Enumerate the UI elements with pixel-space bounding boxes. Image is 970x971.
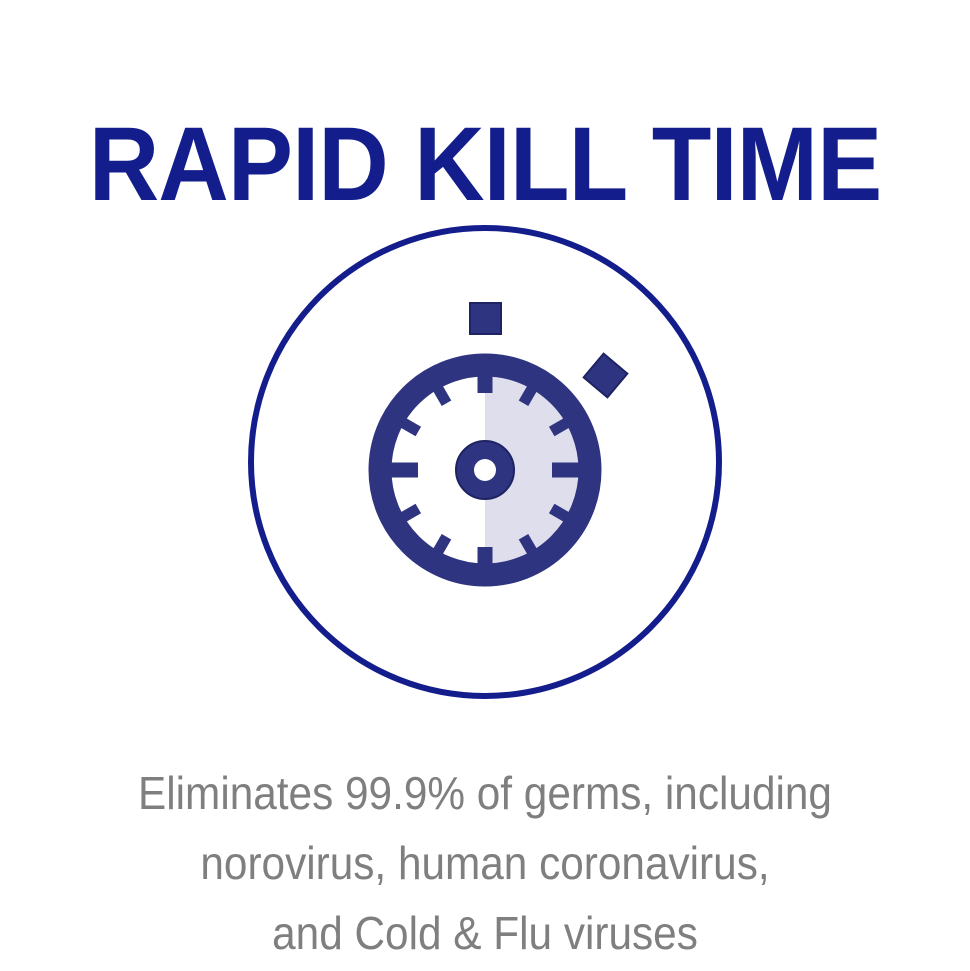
stopwatch-top-button <box>470 303 501 334</box>
caption-line-3: and Cold & Flu viruses <box>39 898 931 968</box>
stopwatch-icon <box>235 210 735 710</box>
stopwatch-side-knob <box>584 354 628 398</box>
marketing-feature-panel: RAPID KILL TIME <box>0 0 970 971</box>
caption-line-1: Eliminates 99.9% of germs, including <box>39 758 931 828</box>
caption-block: Eliminates 99.9% of germs, including nor… <box>39 758 931 968</box>
stopwatch-center-hole <box>474 459 496 481</box>
caption-line-2: norovirus, human coronavirus, <box>39 828 931 898</box>
page-title: RAPID KILL TIME <box>34 110 936 220</box>
